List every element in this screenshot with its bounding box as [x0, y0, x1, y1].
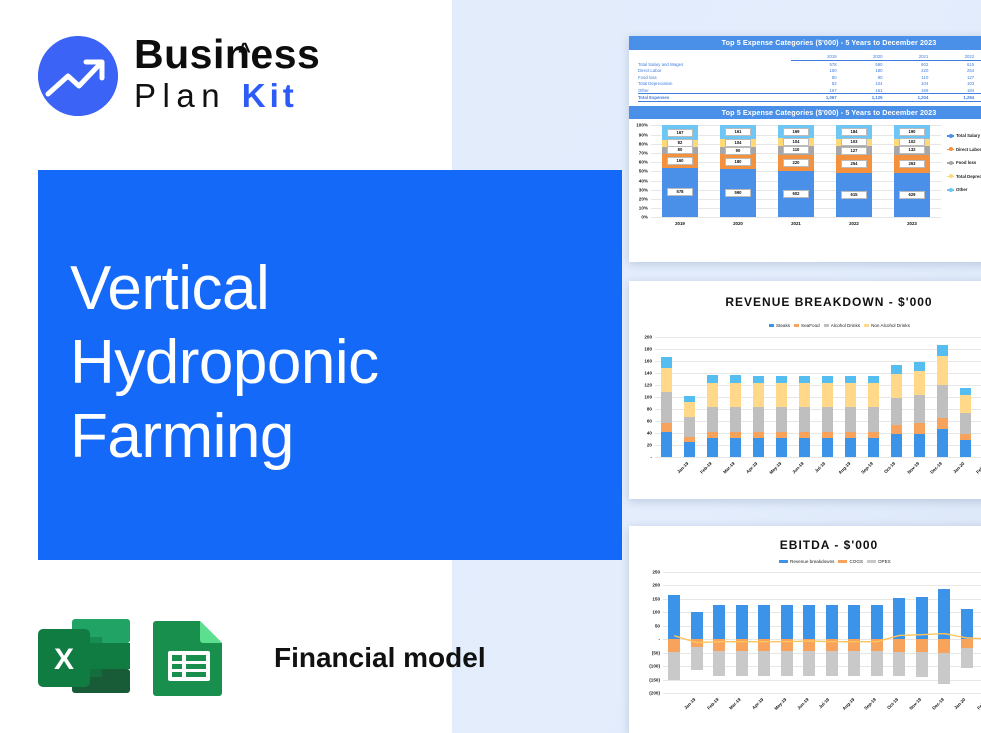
bar-segment: [822, 376, 834, 383]
bar-value-label: 160: [667, 157, 692, 165]
bar-segment: [893, 652, 905, 677]
bar-segment: [707, 383, 719, 408]
legend-item[interactable]: Total Salary and Wages: [947, 133, 981, 138]
gridline: [655, 349, 981, 350]
y-axis-tick: 10%: [639, 206, 648, 211]
bar-segment: [799, 383, 811, 407]
bar-segment: [799, 407, 811, 432]
ebitda-card[interactable]: EBITDA - $'000 Revenue breakdownsCOGSOPE…: [629, 526, 981, 733]
revenue-legend: SteaksSeaFoodAlcohol DrinksNon Alcohol D…: [769, 323, 910, 328]
legend-item[interactable]: OPEX: [867, 559, 891, 564]
legend-label: Total Salary and Wages: [956, 133, 981, 138]
bar-value-label: 578: [667, 188, 692, 196]
bar-segment: [691, 612, 703, 639]
bar-value-label: 602: [783, 190, 808, 198]
x-axis-tick: Aug-19: [841, 697, 855, 711]
x-axis-tick: Oct-19: [883, 461, 896, 474]
bar-segment: [914, 434, 926, 457]
stacked-bar: [891, 365, 903, 457]
bar-segment: [891, 374, 903, 397]
bar-segment: [776, 383, 788, 407]
y-axis-tick: -: [658, 637, 660, 642]
legend-item[interactable]: SeaFood: [794, 323, 820, 328]
y-axis-tick: 160: [644, 359, 652, 364]
bar-segment: 180: [720, 154, 756, 169]
legend-swatch-icon: [864, 324, 869, 328]
gridline: [655, 409, 981, 410]
expense-col-header: 2022: [928, 54, 974, 61]
footer-formats: X Financial model: [38, 615, 486, 701]
x-axis-tick: 2019: [675, 221, 685, 226]
bar-segment: 220: [778, 155, 814, 172]
y-axis-tick: 40: [647, 431, 652, 436]
x-axis-tick: Feb-20: [976, 697, 981, 711]
legend-item[interactable]: Total Depreciation: [947, 174, 981, 179]
bar-segment: 104: [720, 139, 756, 148]
bar-segment: [845, 438, 857, 457]
bar-segment: [776, 438, 788, 457]
legend-item[interactable]: Alcohol Drinks: [824, 323, 860, 328]
gridline: [663, 680, 981, 681]
circumflex-accent-icon: ^: [238, 29, 251, 73]
bar-segment: [713, 639, 725, 651]
gridline: [655, 457, 981, 458]
y-axis-tick: (50): [652, 650, 660, 655]
trend-arrow-circle-icon: [38, 36, 118, 116]
brand-business-text: Business: [134, 31, 320, 77]
bar-segment: [799, 376, 811, 383]
table-row: Other167161169184190: [638, 87, 981, 94]
bar-value-label: 184: [841, 128, 866, 136]
legend-swatch-icon: [947, 162, 954, 163]
stacked-bar: [661, 357, 673, 457]
gridline: [655, 397, 981, 398]
x-axis-tick: Nov-19: [906, 461, 920, 475]
expense-col-header: 2023: [974, 54, 981, 61]
gridline: [663, 626, 981, 627]
bar-segment: [781, 639, 793, 651]
stacked-bar: [914, 362, 926, 457]
legend-item[interactable]: Food loss: [947, 160, 981, 165]
bar-segment: [730, 383, 742, 408]
x-axis-tick: May-19: [768, 461, 782, 475]
page-title: Vertical Hydroponic Farming: [70, 252, 610, 474]
legend-label: Total Depreciation: [956, 174, 981, 179]
gridline: [663, 666, 981, 667]
bar-segment: 80: [662, 147, 698, 154]
bar-segment: 169: [778, 125, 814, 138]
google-sheets-icon: [148, 619, 240, 697]
bar-value-label: 615: [841, 191, 866, 199]
y-axis-tick: 20: [647, 443, 652, 448]
bar-segment: 110: [778, 146, 814, 154]
ebitda-legend: Revenue breakdownsCOGSOPEX: [779, 559, 891, 564]
bar-value-label: 254: [841, 160, 866, 168]
bar-segment: [891, 365, 903, 374]
legend-swatch-icon: [794, 324, 799, 328]
bar-segment: [776, 407, 788, 432]
x-axis-tick: 2022: [849, 221, 859, 226]
bar-segment: [668, 595, 680, 639]
bar-segment: [758, 605, 770, 639]
bar-segment: 90: [720, 147, 756, 154]
bar-segment: [848, 639, 860, 651]
y-axis-tick: 30%: [639, 187, 648, 192]
bar-segment: [776, 376, 788, 383]
bar-segment: [758, 651, 770, 676]
bar-value-label: 104: [725, 139, 750, 147]
bar-segment: [684, 402, 696, 417]
table-row-total: Total Expenses1,0671,1251,2041,2841,316: [638, 94, 981, 101]
bar-segment: [799, 438, 811, 457]
bar-segment: 254: [836, 155, 872, 173]
legend-swatch-icon: [838, 560, 847, 564]
y-axis-tick: 140: [644, 371, 652, 376]
y-axis-tick: 60: [647, 419, 652, 424]
bar-segment: [868, 407, 880, 432]
gridline: [663, 599, 981, 600]
bar-segment: [713, 605, 725, 639]
x-axis-tick: Apr-19: [751, 697, 764, 710]
bar-value-label: 110: [783, 146, 808, 154]
bar-segment: [938, 639, 950, 653]
legend-item[interactable]: COGS: [838, 559, 863, 564]
gridline: [655, 385, 981, 386]
y-axis-tick: 50%: [639, 169, 648, 174]
stacked-bar: [799, 376, 811, 457]
bar-value-label: 190: [899, 128, 924, 136]
y-axis-tick: 40%: [639, 178, 648, 183]
expense-col-header: 2019: [791, 54, 837, 61]
legend-item[interactable]: Direct Labor: [947, 147, 981, 152]
y-axis-tick: -: [650, 455, 652, 460]
bar-segment: [803, 605, 815, 640]
bar-segment: [961, 639, 973, 648]
stacked-bar: [822, 376, 834, 457]
stacked-bar: 615254127103184: [836, 125, 872, 217]
y-axis-tick: 250: [652, 570, 660, 575]
legend-label: Food loss: [956, 160, 976, 165]
bar-segment: [914, 423, 926, 433]
bar-segment: [730, 407, 742, 432]
legend-item[interactable]: Non Alcohol Drinks: [864, 323, 910, 328]
expense-legend: Total Salary and WagesDirect LaborFood l…: [947, 133, 981, 192]
stacked-bar: [845, 376, 857, 457]
bar-segment: 127: [836, 146, 872, 155]
legend-swatch-icon: [947, 189, 954, 190]
bar-segment: [753, 407, 765, 432]
stacked-bar: [753, 376, 765, 457]
legend-swatch-icon: [824, 324, 829, 328]
table-row: Total Salary and Wages578590602615629: [638, 61, 981, 68]
bar-segment: 82: [662, 140, 698, 147]
legend-label: COGS: [849, 559, 863, 564]
bar-segment: [707, 407, 719, 432]
legend-swatch-icon: [867, 560, 876, 564]
bar-segment: [684, 442, 696, 457]
stacked-bar: 59018090104161: [720, 125, 756, 217]
bar-segment: [845, 407, 857, 432]
bar-segment: [914, 371, 926, 395]
x-axis-tick: 2021: [791, 221, 801, 226]
y-axis-tick: 80: [647, 407, 652, 412]
stacked-bar: [707, 375, 719, 457]
bar-segment: [937, 429, 949, 457]
bar-segment: [826, 639, 838, 651]
bar-segment: 104: [778, 138, 814, 146]
legend-swatch-icon: [947, 149, 954, 150]
bar-segment: [826, 605, 838, 639]
bar-segment: [891, 425, 903, 435]
bar-segment: [845, 383, 857, 407]
gridline: [655, 373, 981, 374]
bar-segment: 190: [894, 125, 930, 138]
bar-segment: [871, 605, 883, 639]
bar-value-label: 102: [899, 138, 924, 146]
legend-swatch-icon: [947, 176, 954, 177]
bar-segment: [960, 413, 972, 435]
bar-segment: [730, 375, 742, 382]
bar-segment: [661, 357, 673, 367]
page-title-line-1: Vertical: [70, 252, 610, 326]
legend-swatch-icon: [779, 560, 788, 564]
revenue-chart-title: REVENUE BREAKDOWN - $'000: [629, 295, 981, 309]
x-axis-tick: Mar-19: [722, 461, 736, 475]
stacked-bar: [730, 375, 742, 457]
x-axis-tick: Sep-19: [863, 697, 877, 711]
x-axis-tick: Jan-19: [676, 461, 689, 474]
bar-segment: [938, 653, 950, 683]
bar-value-label: 103: [841, 138, 866, 146]
bar-segment: 132: [894, 146, 930, 155]
legend-label: Alcohol Drinks: [831, 323, 860, 328]
bar-segment: [803, 651, 815, 676]
bar-segment: [707, 438, 719, 457]
bar-segment: [893, 598, 905, 639]
bar-segment: 103: [836, 139, 872, 146]
y-axis-tick: 60%: [639, 160, 648, 165]
bar-value-label: 167: [667, 129, 692, 137]
bar-value-label: 80: [667, 146, 692, 154]
bar-segment: [891, 434, 903, 457]
y-axis-tick: 120: [644, 383, 652, 388]
bar-segment: [868, 376, 880, 383]
bar-segment: [937, 418, 949, 429]
bar-segment: [868, 438, 880, 457]
bar-segment: 602: [778, 171, 814, 217]
legend-label: OPEX: [878, 559, 891, 564]
bar-segment: [937, 356, 949, 385]
revenue-breakdown-card[interactable]: REVENUE BREAKDOWN - $'000 SteaksSeaFoodA…: [629, 281, 981, 499]
y-axis-tick: (200): [649, 691, 660, 696]
bar-segment: [868, 383, 880, 407]
bar-segment: [914, 395, 926, 424]
bar-segment: [961, 648, 973, 668]
bar-segment: 590: [720, 169, 756, 217]
brand-line-business: Business ^: [134, 32, 349, 76]
legend-item[interactable]: Other: [947, 187, 981, 192]
stacked-bar: [937, 345, 949, 457]
legend-swatch-icon: [947, 135, 954, 136]
bar-segment: [916, 652, 928, 677]
legend-label: SeaFood: [801, 323, 820, 328]
x-axis-tick: Oct-19: [886, 697, 899, 710]
x-axis-tick: Jul-19: [818, 697, 831, 710]
bar-segment: [960, 440, 972, 457]
brand-logo: Business ^ Plan Kit: [38, 32, 338, 118]
ebitda-chart-title: EBITDA - $'000: [629, 538, 981, 552]
bar-segment: [736, 605, 748, 639]
gridline: [651, 217, 941, 218]
microsoft-excel-icon: X: [38, 619, 130, 697]
bar-segment: 615: [836, 173, 872, 217]
x-axis-tick: Jan-20: [953, 697, 966, 710]
bar-value-label: 90: [725, 147, 750, 155]
x-axis-tick: Jan-19: [683, 697, 696, 710]
y-axis-tick: 70%: [639, 150, 648, 155]
bar-segment: [871, 651, 883, 676]
y-axis-tick: 100: [644, 395, 652, 400]
bar-segment: [691, 647, 703, 670]
bar-segment: [916, 597, 928, 639]
bar-value-label: 161: [725, 128, 750, 136]
expense-table-title: Top 5 Expense Categories ($'000) - 5 Yea…: [629, 36, 981, 50]
x-axis-tick: 2023: [907, 221, 917, 226]
y-axis-tick: 100%: [636, 123, 648, 128]
bar-segment: [753, 383, 765, 407]
bar-segment: [960, 395, 972, 413]
x-axis-tick: Nov-19: [909, 697, 923, 711]
bar-segment: [707, 375, 719, 382]
bar-segment: [822, 383, 834, 407]
bar-segment: [914, 362, 926, 371]
bar-segment: [736, 651, 748, 676]
gridline: [655, 337, 981, 338]
bar-segment: 578: [662, 168, 698, 218]
bar-segment: [891, 398, 903, 425]
x-axis-tick: Dec-19: [929, 461, 943, 475]
bar-segment: [822, 438, 834, 457]
bar-segment: [826, 651, 838, 676]
y-axis-tick: 80%: [639, 141, 648, 146]
bar-segment: [753, 376, 765, 383]
x-axis-tick: Jun-19: [796, 697, 810, 711]
bar-value-label: 132: [899, 146, 924, 154]
bar-segment: [848, 651, 860, 676]
x-axis-tick: Feb-20: [975, 461, 981, 475]
expense-chart-title: Top 5 Expense Categories ($'000) - 5 Yea…: [629, 106, 981, 120]
x-axis-tick: Feb-19: [706, 697, 720, 711]
bar-value-label: 220: [783, 159, 808, 167]
stacked-bar: 629263132102190: [894, 125, 930, 217]
bar-value-label: 263: [899, 160, 924, 168]
y-axis-tick: 50: [655, 623, 660, 628]
x-axis-tick: Mar-19: [728, 697, 742, 711]
bar-value-label: 180: [725, 158, 750, 166]
expense-categories-card[interactable]: Top 5 Expense Categories ($'000) - 5 Yea…: [629, 36, 981, 262]
legend-label: Non Alcohol Drinks: [871, 323, 910, 328]
bar-value-label: 127: [841, 147, 866, 155]
revenue-stacked-chart: 20018016014012010080604020-Jan-19Feb-19M…: [629, 329, 981, 499]
bar-segment: [938, 589, 950, 639]
gridline: [655, 433, 981, 434]
bar-segment: [730, 438, 742, 457]
expense-stacked-chart: 100%90%80%70%60%50%40%30%20%10%0%5781608…: [629, 121, 981, 231]
legend-label: Steaks: [776, 323, 790, 328]
bar-segment: [916, 639, 928, 652]
y-axis-tick: (100): [649, 664, 660, 669]
bar-segment: 161: [720, 125, 756, 138]
gridline: [655, 445, 981, 446]
bar-segment: [937, 385, 949, 418]
bar-segment: [961, 609, 973, 639]
x-axis-tick: May-19: [774, 697, 788, 711]
bar-segment: 184: [836, 125, 872, 138]
bar-segment: 629: [894, 173, 930, 217]
stacked-bar: 602220110104169: [778, 125, 814, 217]
x-axis-tick: Feb-19: [699, 461, 713, 475]
bar-segment: [713, 651, 725, 676]
gridline: [663, 693, 981, 694]
brand-line-plankit: Plan Kit: [134, 76, 349, 116]
x-axis-tick: Sep-19: [860, 461, 874, 475]
bar-segment: [661, 423, 673, 433]
y-axis-tick: 90%: [639, 132, 648, 137]
brand-wordmark: Business ^ Plan Kit: [134, 32, 349, 116]
bar-segment: 167: [662, 125, 698, 139]
bar-segment: [848, 605, 860, 639]
bar-value-label: 82: [667, 139, 692, 147]
page-title-line-2: Hydroponic: [70, 326, 610, 400]
stacked-bar: [684, 396, 696, 457]
gridline: [663, 639, 981, 640]
x-axis-tick: Jun-19: [791, 461, 805, 475]
page-title-line-3: Farming: [70, 400, 610, 474]
bar-segment: [937, 345, 949, 356]
legend-item[interactable]: Steaks: [769, 323, 790, 328]
x-axis-tick: Aug-19: [837, 461, 851, 475]
x-axis-tick: Apr-19: [745, 461, 758, 474]
bar-segment: [661, 368, 673, 393]
gridline: [655, 421, 981, 422]
gridline: [663, 653, 981, 654]
y-axis-tick: 150: [652, 596, 660, 601]
stacked-bar: 5781608082167: [662, 125, 698, 217]
y-axis-tick: 100: [652, 610, 660, 615]
bar-segment: [893, 639, 905, 651]
expense-col-header: 2020: [837, 54, 883, 61]
legend-label: Direct Labor: [956, 147, 981, 152]
bar-segment: [668, 639, 680, 652]
svg-text:X: X: [54, 643, 74, 676]
bar-segment: [661, 392, 673, 423]
legend-swatch-icon: [769, 324, 774, 328]
bar-segment: [661, 432, 673, 457]
bar-segment: [803, 639, 815, 651]
ebitda-stacked-chart: 25020015010050-(50)(100)(150)(200)Jan-19…: [629, 566, 981, 733]
bar-segment: [758, 639, 770, 651]
bar-segment: [781, 605, 793, 639]
footer-label: Financial model: [274, 642, 486, 674]
expense-table: 20192020202120222023Total Salary and Wag…: [629, 50, 981, 104]
legend-item[interactable]: Revenue breakdowns: [779, 559, 834, 564]
bar-value-label: 590: [725, 189, 750, 197]
legend-label: Other: [956, 187, 967, 192]
bar-segment: 102: [894, 139, 930, 146]
bar-value-label: 169: [783, 128, 808, 136]
brand-kit-text: Kit: [242, 77, 298, 114]
bar-segment: [781, 651, 793, 676]
